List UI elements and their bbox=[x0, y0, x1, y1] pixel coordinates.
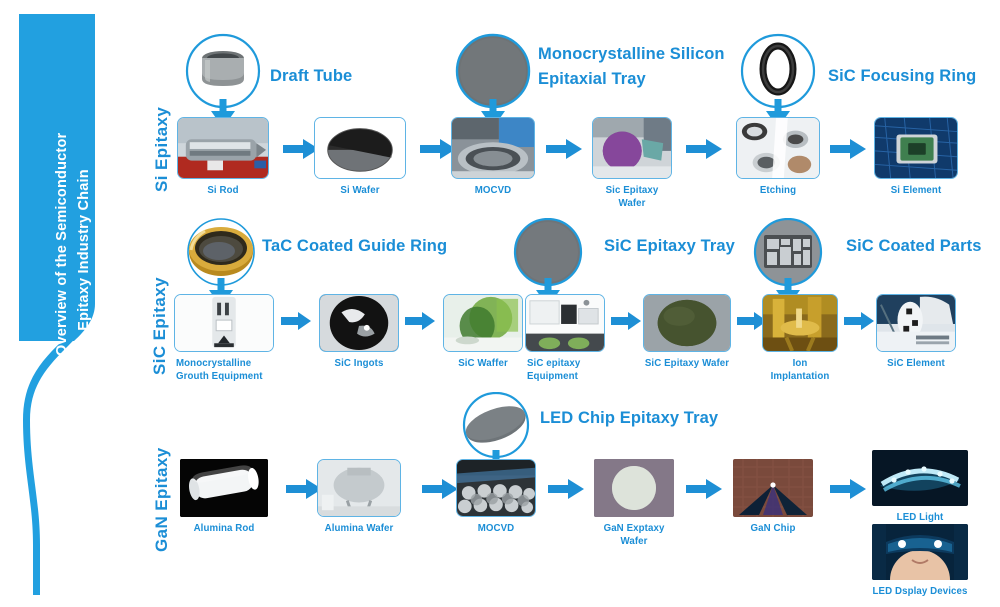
sic-epitaxy-equipment-photo bbox=[525, 294, 605, 352]
mocvd-chamber-photo bbox=[451, 117, 535, 179]
banner-ribbon-shape bbox=[0, 0, 130, 607]
caption-si-wafer: Si Wafer bbox=[314, 184, 406, 197]
caption-mocvd-si: MOCVD bbox=[451, 184, 535, 197]
caption-ion-implantation: Ion Implantation bbox=[762, 357, 838, 383]
step-mocvd-gan[interactable]: MOCVD bbox=[456, 459, 536, 535]
arrow-wafer-to-etching bbox=[686, 139, 722, 159]
arrow-equipment-to-epitaxy-wafer bbox=[611, 312, 641, 330]
step-sic-element[interactable]: SiC Element bbox=[876, 294, 956, 370]
step-sic-epitaxy-wafer-2[interactable]: SiC Epitaxy Wafer bbox=[643, 294, 731, 370]
step-monocrystalline-growth[interactable]: Monocrystalline Grouth Equipment bbox=[174, 294, 274, 383]
callout-label-sic-coated-parts: SiC Coated Parts bbox=[846, 234, 981, 259]
step-mocvd-si[interactable]: MOCVD bbox=[451, 117, 535, 197]
arrow-gan-wafer-to-chip bbox=[686, 479, 722, 499]
callout-label-led-chip-epitaxy-tray: LED Chip Epitaxy Tray bbox=[540, 406, 718, 431]
sic-epitaxy-wafer-photo bbox=[592, 117, 672, 179]
caption-gan-exptaxy-wafer: GaN Exptaxy Wafer bbox=[594, 522, 674, 548]
caption-sic-epitaxy-equipment: SiC epitaxy Equipment bbox=[525, 357, 605, 383]
caption-led-display-devices: LED Dsplay Devices bbox=[872, 585, 968, 598]
arrow-ingots-to-waffer bbox=[405, 312, 435, 330]
row-label-sic-epitaxy: SiC Epitaxy bbox=[150, 277, 170, 375]
caption-sic-waffer: SiC Waffer bbox=[443, 357, 523, 370]
caption-si-element: Si Element bbox=[874, 184, 958, 197]
step-si-wafer[interactable]: Si Wafer bbox=[314, 117, 406, 197]
alumina-wafer-photo bbox=[317, 459, 401, 517]
step-sic-epitaxy-equipment[interactable]: SiC epitaxy Equipment bbox=[525, 294, 605, 383]
step-led-display-devices[interactable]: LED Dsplay Devices bbox=[872, 524, 968, 598]
arrow-ion-to-sic-element bbox=[844, 312, 874, 330]
callout-label-epitaxial-tray: Monocrystalline Silicon Epitaxial Tray bbox=[538, 42, 725, 92]
sic-epitaxy-wafer2-photo bbox=[643, 294, 731, 352]
arrow-mocvd-to-gan-wafer bbox=[548, 479, 584, 499]
step-sic-ingots[interactable]: SiC Ingots bbox=[319, 294, 399, 370]
etching-equipment-photo bbox=[736, 117, 820, 179]
caption-monocrystalline-growth: Monocrystalline Grouth Equipment bbox=[174, 357, 274, 383]
arrow-mocvd-to-sic-epitaxy-wafer bbox=[546, 139, 582, 159]
si-rod-photo bbox=[177, 117, 269, 179]
diagram-canvas: Overview of the Semiconductor Chip Epita… bbox=[0, 0, 1000, 607]
step-gan-chip[interactable]: GaN Chip bbox=[733, 459, 813, 535]
sic-element-photo bbox=[876, 294, 956, 352]
step-sic-waffer[interactable]: SiC Waffer bbox=[443, 294, 523, 370]
alumina-rod-photo bbox=[180, 459, 268, 517]
step-ion-implantation[interactable]: Ion Implantation bbox=[762, 294, 838, 383]
caption-sic-epitaxy-wafer-2: SiC Epitaxy Wafer bbox=[643, 357, 731, 370]
caption-sic-ingots: SiC Ingots bbox=[319, 357, 399, 370]
callout-label-sic-epitaxy-tray: SiC Epitaxy Tray bbox=[604, 234, 735, 259]
step-alumina-wafer[interactable]: Alumina Wafer bbox=[317, 459, 401, 535]
step-gan-exptaxy-wafer[interactable]: GaN Exptaxy Wafer bbox=[594, 459, 674, 548]
ion-implantation-photo bbox=[762, 294, 838, 352]
caption-alumina-wafer: Alumina Wafer bbox=[317, 522, 401, 535]
sic-ingots-photo bbox=[319, 294, 399, 352]
step-sic-epitaxy-wafer-1[interactable]: Sic Epitaxy Wafer bbox=[592, 117, 672, 210]
caption-mocvd-gan: MOCVD bbox=[456, 522, 536, 535]
caption-sic-element: SiC Element bbox=[876, 357, 956, 370]
caption-etching: Etching bbox=[736, 184, 820, 197]
callout-label-focusing-ring: SiC Focusing Ring bbox=[828, 64, 976, 89]
si-element-chip-photo bbox=[874, 117, 958, 179]
caption-gan-chip: GaN Chip bbox=[733, 522, 813, 535]
caption-led-light: LED Light bbox=[872, 511, 968, 524]
arrow-alumina-wafer-to-mocvd bbox=[422, 479, 458, 499]
caption-si-rod: Si Rod bbox=[177, 184, 269, 197]
step-alumina-rod[interactable]: Alumina Rod bbox=[180, 459, 268, 535]
step-si-rod[interactable]: Si Rod bbox=[177, 117, 269, 197]
title-banner: Overview of the Semiconductor Chip Epita… bbox=[0, 0, 130, 607]
monocrystalline-growth-equipment-photo bbox=[174, 294, 274, 352]
arrow-gan-chip-to-outputs bbox=[830, 479, 866, 499]
callout-label-tac-guide-ring: TaC Coated Guide Ring bbox=[262, 234, 447, 259]
row-label-gan-epitaxy: GaN Epitaxy bbox=[152, 447, 172, 552]
si-wafer-photo bbox=[314, 117, 406, 179]
caption-alumina-rod: Alumina Rod bbox=[180, 522, 268, 535]
step-si-element[interactable]: Si Element bbox=[874, 117, 958, 197]
gan-exptaxy-wafer-photo bbox=[594, 459, 674, 517]
arrow-etching-to-si-element bbox=[830, 139, 866, 159]
arrow-growth-to-ingots bbox=[281, 312, 311, 330]
callout-label-draft-tube: Draft Tube bbox=[270, 64, 352, 89]
led-light-photo bbox=[872, 450, 968, 506]
sic-waffer-photo bbox=[443, 294, 523, 352]
row-label-si-epitaxy: Si Epitaxy bbox=[152, 107, 172, 192]
gan-chip-photo bbox=[733, 459, 813, 517]
led-display-devices-photo bbox=[872, 524, 968, 580]
step-led-light[interactable]: LED Light bbox=[872, 450, 968, 524]
gan-mocvd-photo bbox=[456, 459, 536, 517]
caption-sic-epitaxy-wafer-1: Sic Epitaxy Wafer bbox=[592, 184, 672, 210]
step-etching[interactable]: Etching bbox=[736, 117, 820, 197]
